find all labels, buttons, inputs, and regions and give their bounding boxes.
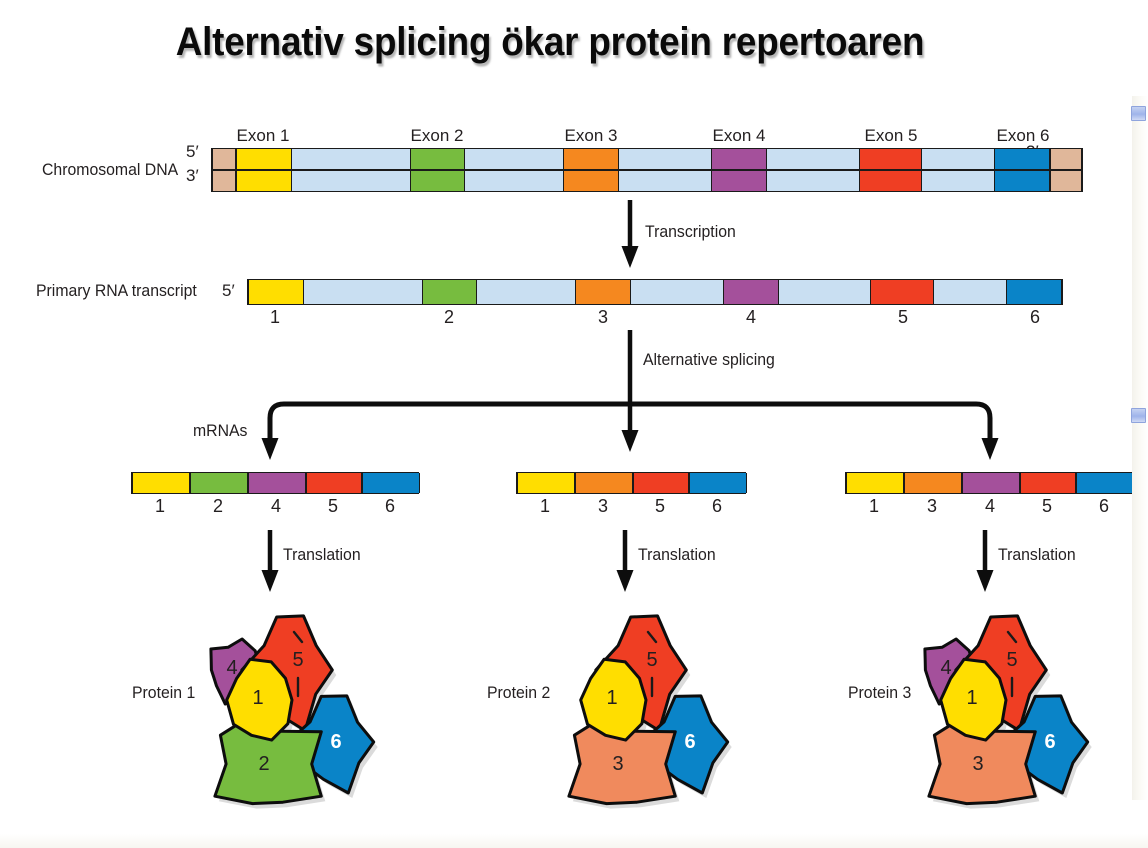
mrna-3-number-1: 1	[869, 496, 879, 517]
mrna-1-number-6: 6	[385, 496, 395, 517]
dna-exon-label-6: Exon 6	[997, 126, 1050, 146]
mrna-arrow-3	[982, 430, 999, 460]
dna-bottom-segment-intron-6	[619, 171, 711, 191]
mrna-3-exon-6	[1076, 473, 1134, 493]
dna-three-prime-left: 3′	[186, 166, 199, 186]
alternative-splicing-label: Alternative splicing	[643, 350, 775, 370]
dna-bottom-segment-intron-8	[767, 171, 859, 191]
rna-segment-exon-5	[870, 280, 934, 304]
rna-five-prime: 5′	[222, 281, 235, 301]
mrna-1-number-1: 1	[155, 496, 165, 517]
dna-exon-label-5: Exon 5	[865, 126, 918, 146]
protein-3-subunit-label-1: 1	[966, 687, 977, 709]
mrna-2-number-3: 3	[598, 496, 608, 517]
rna-segment-intron-9	[934, 280, 1006, 304]
protein-2-crease-marks	[648, 632, 656, 696]
dna-top-segment-exon-2	[410, 149, 466, 169]
dna-top-segment-flank-0	[212, 149, 236, 169]
mrna-2-exon-5	[633, 473, 689, 493]
translation-label-3: Translation	[998, 545, 1076, 565]
protein-1-subunit-label-6: 6	[330, 731, 341, 753]
primary-rna-bar	[247, 279, 1063, 305]
dna-top-segment-exon-1	[236, 149, 292, 169]
mrna-2-number-1: 1	[540, 496, 550, 517]
mrna-bar-3	[845, 472, 1133, 494]
protein-2-subunit-1	[581, 659, 646, 740]
protein-1-subunit-2	[215, 717, 321, 804]
bottom-edge-strip	[0, 834, 1148, 848]
dna-five-prime-left: 5′	[186, 142, 199, 162]
dna-top-segment-intron-4	[465, 149, 563, 169]
protein-1-subunit-label-2: 2	[258, 753, 269, 775]
protein-1-subunit-6	[288, 696, 374, 793]
mrna-2-number-5: 5	[655, 496, 665, 517]
protein-3-subunit-5	[956, 616, 1047, 731]
protein-1-subunit-4	[211, 639, 261, 704]
dna-top-segment-intron-8	[767, 149, 859, 169]
protein-1: 45621	[211, 616, 378, 809]
mrna-3-exon-4	[962, 473, 1020, 493]
protein-label-3: Protein 3	[848, 683, 911, 703]
dna-bottom-segment-exon-6	[994, 171, 1050, 191]
translation-arrow-1	[262, 530, 279, 592]
dna-top-segment-exon-4	[711, 149, 767, 169]
rna-segment-exon-2	[422, 280, 478, 304]
protein-shadow	[215, 621, 378, 809]
mrna-1-exon-4	[248, 473, 306, 493]
protein-2-subunit-3	[569, 717, 675, 804]
dna-top-segment-flank-12	[1050, 149, 1082, 169]
scrollbar-marker-top[interactable]	[1131, 106, 1146, 121]
rna-segment-intron-3	[477, 280, 575, 304]
chromosomal-dna-label: Chromosomal DNA	[42, 160, 178, 180]
rna-segment-intron-5	[631, 280, 723, 304]
mrna-bar-1	[131, 472, 419, 494]
dna-exon-label-1: Exon 1	[237, 126, 290, 146]
vertical-scrollbar[interactable]	[1132, 96, 1148, 800]
dna-bottom-segment-exon-2	[410, 171, 466, 191]
dna-strand-bottom	[211, 170, 1083, 192]
mrna-3-exon-3	[904, 473, 962, 493]
protein-2-subunit-label-5: 5	[646, 649, 657, 671]
protein-label-1: Protein 1	[132, 683, 195, 703]
dna-top-segment-intron-2	[292, 149, 410, 169]
mrna-3-number-3: 3	[927, 496, 937, 517]
protein-3-subunit-6	[1002, 696, 1088, 793]
protein-2-subunit-label-1: 1	[606, 687, 617, 709]
dna-exon-label-3: Exon 3	[565, 126, 618, 146]
dna-top-segment-intron-6	[619, 149, 711, 169]
protein-3-subunit-label-5: 5	[1006, 649, 1017, 671]
protein-3-subunit-label-3: 3	[972, 753, 983, 775]
protein-2-subunit-label-6: 6	[684, 731, 695, 753]
mrna-arrow-1	[262, 430, 279, 460]
dna-bottom-segment-intron-4	[465, 171, 563, 191]
dna-top-segment-exon-6	[994, 149, 1050, 169]
mrna-number-row-2: 1356	[516, 496, 746, 518]
dna-bottom-segment-flank-12	[1050, 171, 1082, 191]
dna-exon-label-4: Exon 4	[713, 126, 766, 146]
mrna-1-exon-1	[132, 473, 190, 493]
scrollbar-marker-bottom[interactable]	[1131, 408, 1146, 423]
transcription-label: Transcription	[645, 222, 736, 242]
dna-bottom-segment-flank-0	[212, 171, 236, 191]
protein-3-subunit-label-6: 6	[1044, 731, 1055, 753]
protein-2-subunit-6	[642, 696, 728, 793]
mrna-3-exon-1	[846, 473, 904, 493]
mrna-bar-2	[516, 472, 746, 494]
protein-2: 5631	[569, 616, 732, 809]
protein-2-subunit-label-3: 3	[612, 753, 623, 775]
dna-bottom-segment-exon-5	[859, 171, 923, 191]
mrna-2-exon-1	[517, 473, 575, 493]
rna-segment-exon-6	[1006, 280, 1062, 304]
dna-bottom-segment-intron-10	[922, 171, 994, 191]
mrna-2-number-6: 6	[712, 496, 722, 517]
protein-3-crease-marks	[1008, 632, 1016, 696]
dna-bottom-segment-exon-4	[711, 171, 767, 191]
mrna-3-exon-5	[1020, 473, 1076, 493]
dna-strand-top	[211, 148, 1083, 170]
mrna-2-exon-6	[689, 473, 747, 493]
dna-bottom-segment-exon-3	[563, 171, 619, 191]
translation-label-1: Translation	[283, 545, 361, 565]
translation-label-2: Translation	[638, 545, 716, 565]
dna-exon-label-2: Exon 2	[411, 126, 464, 146]
translation-arrow-2	[617, 530, 634, 592]
mrna-number-row-3: 13456	[845, 496, 1133, 518]
rna-segment-exon-3	[575, 280, 631, 304]
protein-3: 45631	[925, 616, 1092, 809]
primary-rna-label: Primary RNA transcript	[36, 281, 197, 301]
rna-segment-intron-1	[304, 280, 422, 304]
dna-top-segment-intron-10	[922, 149, 994, 169]
protein-label-2: Protein 2	[487, 683, 550, 703]
primary-rna-number-row: 123456	[247, 307, 1063, 329]
mrna-1-number-5: 5	[328, 496, 338, 517]
rna-exon-number-3: 3	[598, 307, 608, 328]
dna-top-segment-exon-5	[859, 149, 923, 169]
protein-1-subunit-label-4: 4	[226, 657, 237, 679]
protein-1-subunit-label-1: 1	[252, 687, 263, 709]
dna-top-segment-exon-3	[563, 149, 619, 169]
rna-exon-number-4: 4	[746, 307, 756, 328]
alternative-splicing-arrow	[622, 330, 639, 452]
splicing-branch-bracket	[270, 404, 990, 452]
protein-3-subunit-1	[941, 659, 1006, 740]
rna-exon-number-5: 5	[898, 307, 908, 328]
mrna-3-number-6: 6	[1099, 496, 1109, 517]
mrna-2-exon-3	[575, 473, 633, 493]
protein-1-subunit-5	[242, 616, 332, 731]
translation-arrow-3	[977, 530, 994, 592]
mrna-number-row-1: 12456	[131, 496, 419, 518]
mrna-1-exon-2	[190, 473, 248, 493]
dna-bottom-segment-intron-2	[292, 171, 410, 191]
rna-exon-number-1: 1	[270, 307, 280, 328]
mrna-1-number-4: 4	[271, 496, 281, 517]
rna-exon-number-2: 2	[444, 307, 454, 328]
transcription-arrow	[622, 200, 639, 268]
slide-canvas: Alternativ splicing ökar protein reperto…	[0, 0, 1148, 848]
protein-shadow	[929, 621, 1092, 809]
mrna-3-number-5: 5	[1042, 496, 1052, 517]
rna-segment-exon-4	[723, 280, 779, 304]
protein-1-crease-marks	[294, 632, 302, 696]
protein-1-subunit-label-5: 5	[292, 649, 303, 671]
protein-3-subunit-3	[929, 717, 1035, 804]
rna-segment-intron-7	[779, 280, 871, 304]
dna-bottom-segment-exon-1	[236, 171, 292, 191]
protein-3-subunit-label-4: 4	[940, 657, 951, 679]
dna-exon-label-row: Exon 1Exon 2Exon 3Exon 4Exon 5Exon 6	[211, 126, 1083, 148]
protein-1-subunit-1	[227, 659, 292, 740]
mrna-1-number-2: 2	[213, 496, 223, 517]
mrna-3-number-4: 4	[985, 496, 995, 517]
mrnas-label: mRNAs	[193, 421, 247, 441]
protein-shadow	[573, 621, 732, 809]
mrna-1-exon-6	[362, 473, 420, 493]
rna-exon-number-6: 6	[1030, 307, 1040, 328]
protein-3-subunit-4	[925, 639, 975, 704]
protein-2-subunit-5	[596, 616, 687, 731]
page-title: Alternativ splicing ökar protein reperto…	[44, 20, 1056, 65]
mrna-1-exon-5	[306, 473, 362, 493]
rna-segment-exon-1	[248, 280, 304, 304]
